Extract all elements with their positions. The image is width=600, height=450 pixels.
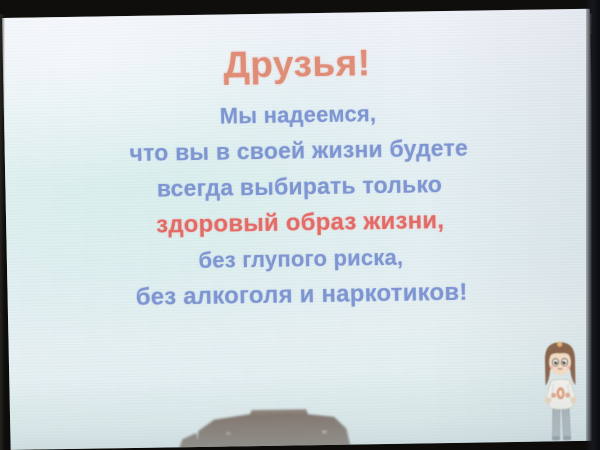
slide-content: Друзья! Мы надеемся, что вы в своей жизн… bbox=[2, 9, 596, 312]
screen-frame-left bbox=[0, 14, 5, 450]
slide-line-6: без алкоголя и наркотиков! bbox=[7, 279, 595, 312]
projector-silhouette bbox=[138, 402, 411, 450]
slide-line-3: всегда выбирать только bbox=[5, 171, 593, 203]
cartoon-girl-illustration bbox=[537, 339, 585, 442]
photo-of-projection-screen: ScreenMedia Друзья! Мы надеемся, что вы … bbox=[0, 0, 600, 450]
slide-line-1: Мы надеемся, bbox=[4, 100, 592, 131]
screen-frame-right bbox=[586, 0, 600, 450]
slide-line-5: без глупого риска, bbox=[7, 244, 595, 275]
slide-title: Друзья! bbox=[3, 41, 592, 87]
slide-text-block: Мы надеемся, что вы в своей жизни будете… bbox=[4, 100, 596, 312]
slide-line-4-highlight: здоровый образ жизни, bbox=[6, 207, 594, 240]
presentation-slide: Друзья! Мы надеемся, что вы в своей жизн… bbox=[2, 9, 599, 450]
slide-line-2: что вы в своей жизни будете bbox=[5, 135, 593, 167]
